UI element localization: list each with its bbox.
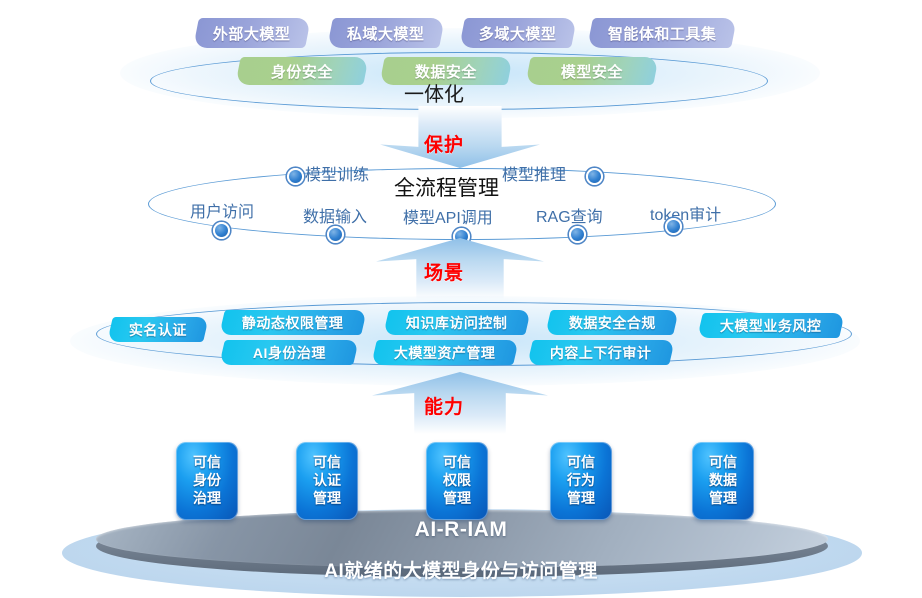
arrow-capability-label: 能力	[424, 392, 464, 419]
chip-model-3[interactable]: 智能体和工具集	[587, 18, 737, 48]
pillar-line-1: 身份	[193, 472, 221, 490]
chip-label: 大模型业务风控	[720, 316, 822, 336]
flow-label-data-input: 数据输入	[303, 203, 367, 227]
flow-label-rag-query: RAG查询	[536, 203, 603, 227]
pillar-line-0: 可信	[193, 454, 221, 472]
pillar-trusted-identity-governance[interactable]: 可信 身份 治理	[176, 442, 238, 520]
chip-label: 内容上下行审计	[550, 343, 652, 363]
pillar-line-1: 权限	[443, 472, 471, 490]
pillar-line-0: 可信	[313, 454, 341, 472]
pillar-line-2: 管理	[567, 490, 595, 508]
chip-capability-7[interactable]: 内容上下行审计	[527, 340, 675, 365]
pillar-trusted-permission-management[interactable]: 可信 权限 管理	[426, 442, 488, 520]
flow-label-token-audit: token审计	[650, 201, 721, 225]
chip-capability-6[interactable]: 大模型资产管理	[371, 340, 519, 365]
chip-model-0[interactable]: 外部大模型	[193, 18, 311, 48]
pillar-line-2: 管理	[313, 490, 341, 508]
base-subtitle: AI就绪的大模型身份与访问管理	[0, 556, 922, 583]
pillar-line-1: 行为	[567, 472, 595, 490]
chip-model-2[interactable]: 多域大模型	[459, 18, 577, 48]
flow-dot-user-access[interactable]	[213, 222, 230, 239]
arrow-protect-label: 保护	[424, 130, 464, 157]
flow-label-user-access: 用户访问	[190, 198, 254, 222]
chip-label: 大模型资产管理	[394, 343, 496, 363]
chip-capability-2[interactable]: 知识库访问控制	[383, 310, 531, 335]
flow-label-model-api-call: 模型API调用	[403, 204, 493, 228]
chip-label: 智能体和工具集	[608, 23, 717, 44]
chip-label: 静动态权限管理	[242, 313, 344, 333]
flow-dot-data-input[interactable]	[327, 226, 344, 243]
flow-label-model-training: 模型训练	[305, 161, 369, 185]
chip-label: 私域大模型	[347, 23, 425, 44]
pillar-trusted-authentication-management[interactable]: 可信 认证 管理	[296, 442, 358, 520]
unify-label: 一体化	[404, 78, 464, 107]
pillar-line-2: 管理	[709, 490, 737, 508]
pillar-trusted-behavior-management[interactable]: 可信 行为 管理	[550, 442, 612, 520]
pillar-line-0: 可信	[443, 454, 471, 472]
chip-security-0[interactable]: 身份安全	[235, 57, 368, 85]
chip-label: 模型安全	[561, 61, 623, 82]
chip-model-1[interactable]: 私域大模型	[327, 18, 445, 48]
pillar-trusted-data-management[interactable]: 可信 数据 管理	[692, 442, 754, 520]
chip-security-2[interactable]: 模型安全	[525, 57, 658, 85]
chip-label: 外部大模型	[213, 23, 291, 44]
flow-label-model-inference: 模型推理	[502, 161, 566, 185]
chip-capability-3[interactable]: 数据安全合规	[545, 310, 679, 335]
chip-capability-5[interactable]: AI身份治理	[219, 340, 359, 365]
pillar-line-1: 认证	[313, 472, 341, 490]
chip-label: 多域大模型	[479, 23, 557, 44]
flow-dot-model-inference[interactable]	[586, 168, 603, 185]
chip-label: 实名认证	[129, 320, 187, 340]
pillar-line-2: 管理	[443, 490, 471, 508]
chip-capability-0[interactable]: 实名认证	[107, 317, 209, 342]
base-title: AI-R-IAM	[0, 518, 922, 542]
arrow-scenario-label: 场景	[424, 258, 464, 285]
diagram-canvas: 外部大模型 私域大模型 多域大模型 智能体和工具集 身份安全 数据安全 模型安全…	[0, 0, 922, 598]
chip-label: 身份安全	[271, 61, 333, 82]
flow-dot-rag-query[interactable]	[569, 226, 586, 243]
chip-capability-4[interactable]: 大模型业务风控	[697, 313, 845, 338]
chip-label: 知识库访问控制	[406, 313, 508, 333]
flow-dot-token-audit[interactable]	[665, 218, 682, 235]
pillar-line-1: 数据	[709, 472, 737, 490]
pillar-line-0: 可信	[709, 454, 737, 472]
chip-label: AI身份治理	[253, 343, 326, 363]
flow-center-label: 全流程管理	[394, 172, 499, 202]
flow-dot-model-training[interactable]	[287, 168, 304, 185]
pillar-line-0: 可信	[567, 454, 595, 472]
chip-label: 数据安全合规	[569, 313, 656, 333]
chip-capability-1[interactable]: 静动态权限管理	[219, 310, 367, 335]
pillar-line-2: 治理	[193, 490, 221, 508]
